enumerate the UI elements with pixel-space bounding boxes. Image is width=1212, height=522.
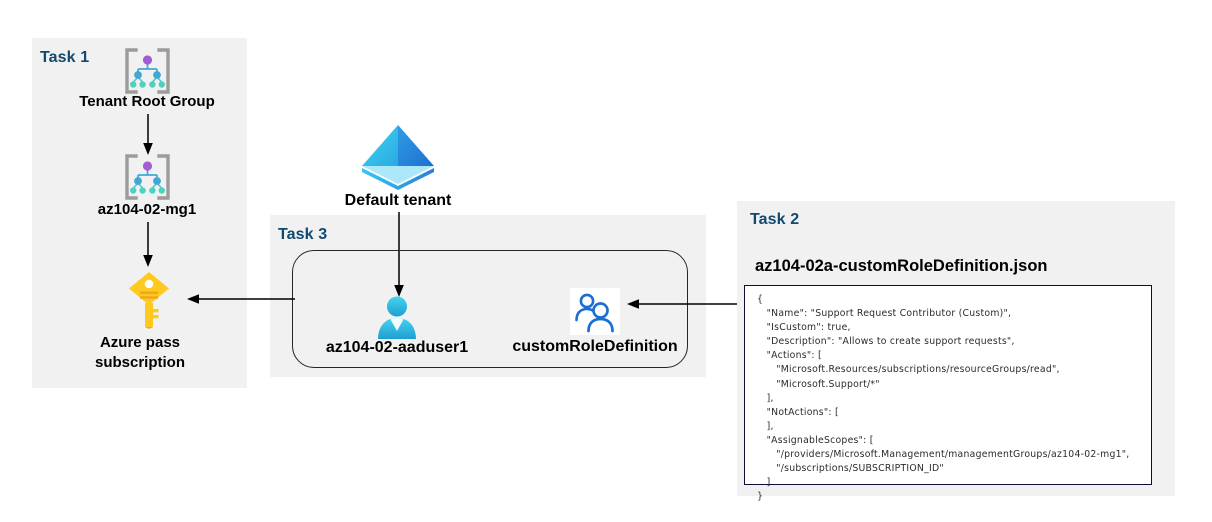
arrow-task3-to-subscription (186, 290, 296, 308)
azure-pass-subscription-line1: Azure pass (100, 334, 180, 351)
azure-pass-subscription-line2: subscription (95, 354, 185, 371)
customroledefinition-label: customRoleDefinition (497, 336, 693, 358)
user-icon (375, 295, 419, 340)
management-group-icon (120, 153, 175, 201)
task-1-label: Task 1 (40, 49, 89, 67)
json-code-card: { "Name": "Support Request Contributor (… (744, 285, 1152, 485)
azure-tenant-icon (358, 122, 438, 190)
json-file-name: az104-02a-customRoleDefinition.json (755, 257, 1047, 276)
task-2-label: Task 2 (750, 211, 799, 229)
azure-pass-subscription-label: Azure pass subscription (45, 333, 235, 374)
aaduser1-label: az104-02-aaduser1 (302, 337, 492, 359)
arrow-json-to-customroledefinition (626, 295, 738, 313)
mg1-label: az104-02-mg1 (47, 200, 247, 220)
arrow-mg1-to-subscription (138, 222, 158, 268)
json-code-content: { "Name": "Support Request Contributor (… (757, 293, 1141, 504)
management-group-icon (120, 47, 175, 95)
task-3-label: Task 3 (278, 226, 327, 244)
tenant-root-group-label: Tenant Root Group (47, 92, 247, 112)
arrow-tenant-root-to-mg1 (138, 114, 158, 156)
key-icon (126, 271, 172, 329)
role-definition-icon (570, 288, 620, 335)
default-tenant-label: Default tenant (298, 190, 498, 212)
